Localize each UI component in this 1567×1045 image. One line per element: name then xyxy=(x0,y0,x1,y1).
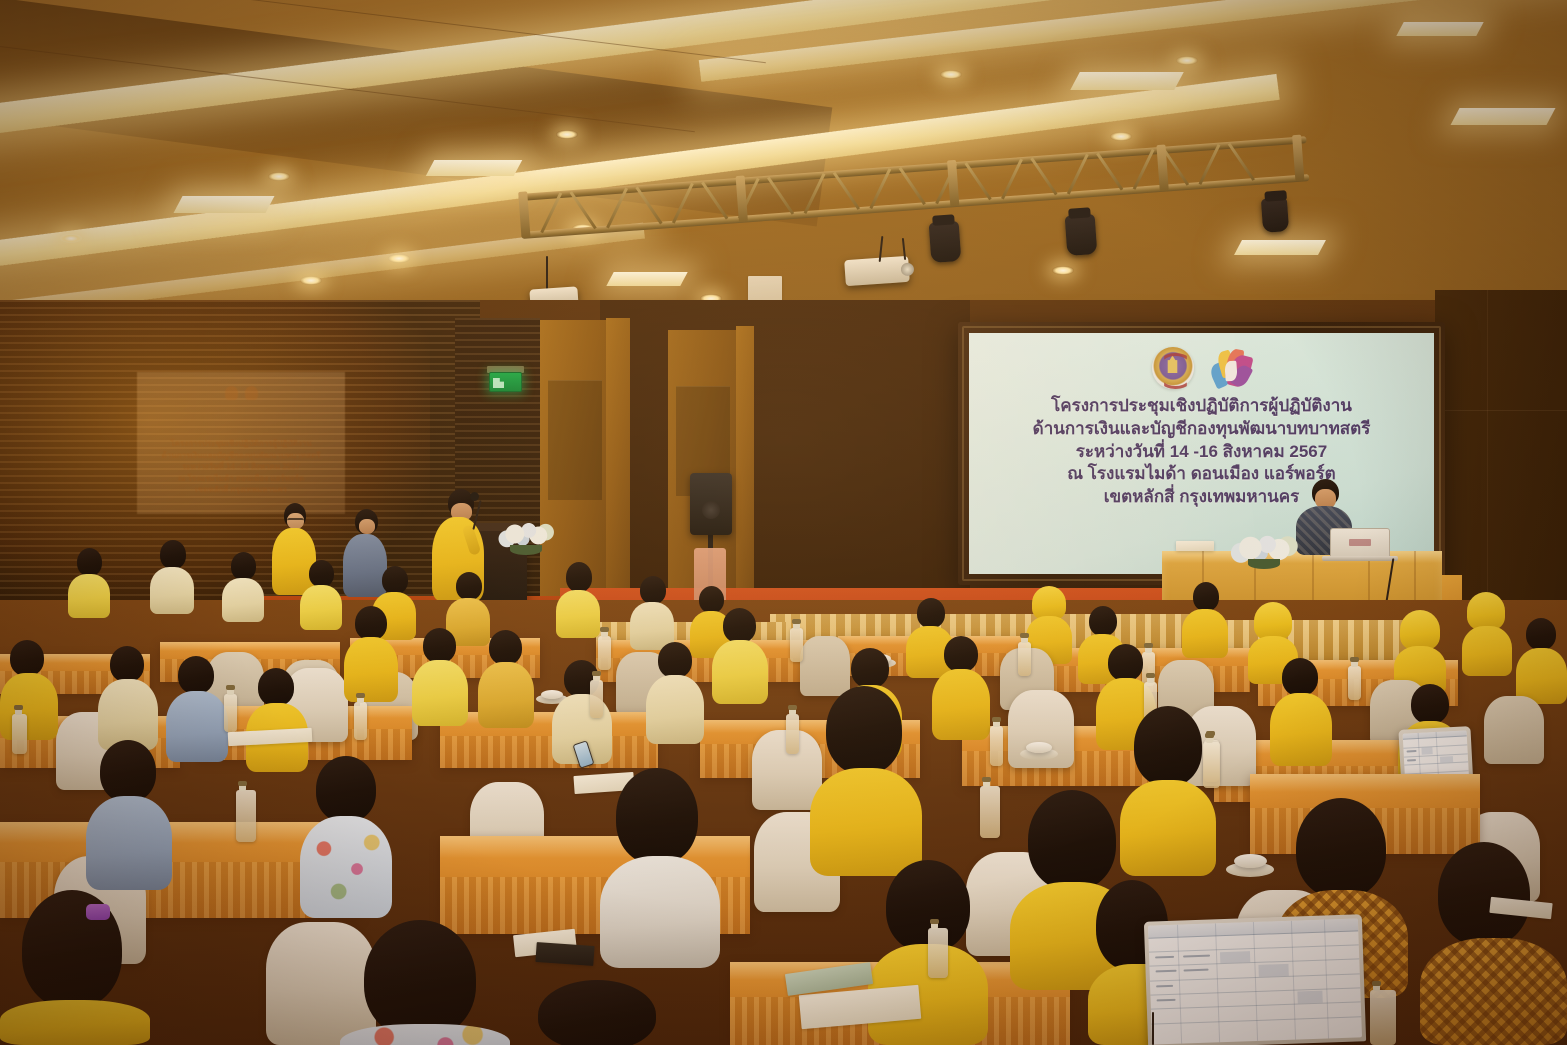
head-table-laptop xyxy=(1330,528,1390,558)
exit-sign xyxy=(489,372,522,392)
laptop-screen xyxy=(1148,918,1362,1044)
slide-text-block: โครงการประชุมเชิงปฏิบัติการผู้ปฏิบัติงาน… xyxy=(969,395,1434,509)
ceiling xyxy=(0,0,1567,330)
water-bottle xyxy=(990,726,1003,766)
audience-member xyxy=(600,768,720,968)
audience-member xyxy=(98,646,158,750)
secondary-projection-line-4: ณ โรงแรมไมด้า ดอนเมือง แอร์พอร์ต xyxy=(137,473,345,485)
ceiling-panel-light xyxy=(1234,240,1326,255)
water-bottle xyxy=(12,714,27,754)
audience-member xyxy=(1270,658,1332,766)
audience-member xyxy=(810,686,922,876)
audience-member xyxy=(556,562,600,638)
water-bottle xyxy=(1203,742,1220,788)
audience-member xyxy=(166,656,228,762)
water-bottle xyxy=(786,714,799,754)
laptop-cable xyxy=(1152,1012,1154,1045)
audience-member xyxy=(340,920,510,1045)
audience-member xyxy=(1120,706,1216,876)
truss-web xyxy=(1030,158,1057,196)
audience-member xyxy=(1420,842,1567,1045)
wall-pillar xyxy=(736,326,754,608)
stage-spotlight xyxy=(1065,214,1098,256)
head-table-flowers xyxy=(1230,533,1298,563)
wall-recess-panel xyxy=(600,300,970,610)
hijab xyxy=(1400,610,1440,650)
truss-web xyxy=(570,191,597,229)
audience-table xyxy=(440,712,658,768)
truss-web xyxy=(1096,153,1123,191)
truss-web xyxy=(635,187,662,225)
water-bottle xyxy=(590,680,603,718)
womens-development-fund-ribbon-logo-icon xyxy=(1210,347,1252,389)
head-table-laptop-base xyxy=(1322,556,1398,561)
recessed-downlight xyxy=(1052,266,1074,275)
ceiling-panel-light xyxy=(426,160,523,176)
slide-line-4: ณ โรงแรมไมด้า ดอนเมือง แอร์พอร์ต xyxy=(969,463,1434,486)
audience-member xyxy=(1182,582,1228,658)
audience-member xyxy=(300,560,342,630)
audience-member xyxy=(150,540,194,614)
recessed-downlight xyxy=(60,234,82,243)
water-bottle xyxy=(224,694,237,732)
ceiling-panel-light xyxy=(1070,72,1184,90)
hijab xyxy=(1032,586,1066,620)
secondary-projection-line-2: ด้านการเงินและบัญชีกองทุนพัฒนาบทบาทสตรี xyxy=(137,450,345,462)
audience-member xyxy=(412,628,468,726)
stage-spotlight xyxy=(1261,197,1289,233)
ceiling-panel-light xyxy=(1396,22,1483,36)
audience-member xyxy=(932,636,990,740)
coffee-cup xyxy=(1234,854,1267,868)
secondary-projection-logos xyxy=(137,386,345,400)
slide-logo-row xyxy=(969,347,1434,389)
secondary-projection-line-3: ระหว่างวันที่ 14 -16 สิงหาคม 2567 xyxy=(137,461,345,473)
audience-member xyxy=(0,640,58,740)
water-bottle xyxy=(980,786,1000,838)
water-bottle xyxy=(790,628,803,662)
recessed-downlight xyxy=(940,70,962,79)
truss-web xyxy=(701,182,728,220)
podium-flowers xyxy=(498,519,554,549)
audience-member xyxy=(478,630,534,728)
hair-tie xyxy=(86,904,110,920)
audience-member xyxy=(300,756,392,918)
face xyxy=(359,519,375,534)
pa-loudspeaker xyxy=(690,473,732,535)
water-bottle xyxy=(1370,990,1396,1045)
chair xyxy=(1484,696,1544,764)
audience-member xyxy=(344,606,398,702)
stage-spotlight xyxy=(929,221,962,263)
rig-cable xyxy=(546,256,548,292)
attendee-laptop xyxy=(1144,914,1366,1045)
audience-member xyxy=(512,980,692,1045)
recessed-downlight xyxy=(300,276,322,285)
audience-member xyxy=(68,548,110,618)
water-bottle xyxy=(236,790,256,842)
ceiling-panel-light xyxy=(606,272,687,286)
slide-line-1: โครงการประชุมเชิงปฏิบัติการผู้ปฏิบัติงาน xyxy=(969,395,1434,418)
audience-member xyxy=(630,576,674,650)
audience-member xyxy=(1462,592,1512,676)
truss-web xyxy=(833,172,860,210)
water-bottle xyxy=(1018,642,1031,676)
water-bottle xyxy=(928,928,948,978)
recessed-downlight xyxy=(268,172,290,181)
slide-line-3: ระหว่างวันที่ 14 -16 สิงหาคม 2567 xyxy=(969,441,1434,464)
secondary-projection-screen: โครงการประชุมเชิงปฏิบัติการผู้ปฏิบัติงาน… xyxy=(137,372,345,514)
audience-member xyxy=(246,668,308,772)
recessed-downlight xyxy=(1110,132,1132,141)
coffee-cup xyxy=(1026,742,1052,753)
conference-hall-photo: โครงการประชุมเชิงปฏิบัติการผู้ปฏิบัติงาน… xyxy=(0,0,1567,1045)
video-projector xyxy=(844,256,910,286)
audience-member xyxy=(1516,618,1567,704)
ceiling-panel-light xyxy=(1450,108,1555,125)
audience-member xyxy=(646,642,704,744)
truss-web xyxy=(1228,143,1255,181)
recessed-downlight xyxy=(388,254,410,263)
pillar-panel xyxy=(548,380,601,500)
ceiling-panel-light xyxy=(173,196,274,213)
eyeglasses xyxy=(287,518,304,523)
audience-member xyxy=(712,608,768,704)
head-table-document xyxy=(1176,541,1214,551)
hijab xyxy=(1467,592,1505,630)
truss-web xyxy=(899,167,926,205)
truss-web xyxy=(767,177,794,215)
secondary-projection-line-1: โครงการประชุมเชิงปฏิบัติการผู้ปฏิบัติงาน xyxy=(137,438,345,450)
slide-line-5: เขตหลักสี่ กรุงเทพมหานคร xyxy=(969,486,1434,509)
audience-member xyxy=(222,552,264,622)
slide-line-2: ด้านการเงินและบัญชีกองทุนพัฒนาบทบาทสตรี xyxy=(969,418,1434,441)
microphone-head xyxy=(470,492,479,501)
wall-seam xyxy=(1435,410,1567,411)
secondary-projection-line-5: เขตหลักสี่ กรุงเทพมหานคร xyxy=(137,484,345,496)
recessed-downlight xyxy=(556,130,578,139)
notebook xyxy=(535,942,594,966)
royal-thai-government-emblem-icon xyxy=(1152,347,1194,389)
wall-pillar xyxy=(606,318,630,614)
audience-member xyxy=(0,890,150,1045)
laptop-lid xyxy=(1144,914,1366,1045)
hijab xyxy=(1254,602,1292,640)
audience-member xyxy=(86,740,172,890)
water-bottle xyxy=(1348,666,1361,700)
truss-web xyxy=(964,162,991,200)
recessed-downlight xyxy=(1176,56,1198,65)
water-bottle xyxy=(354,702,367,740)
